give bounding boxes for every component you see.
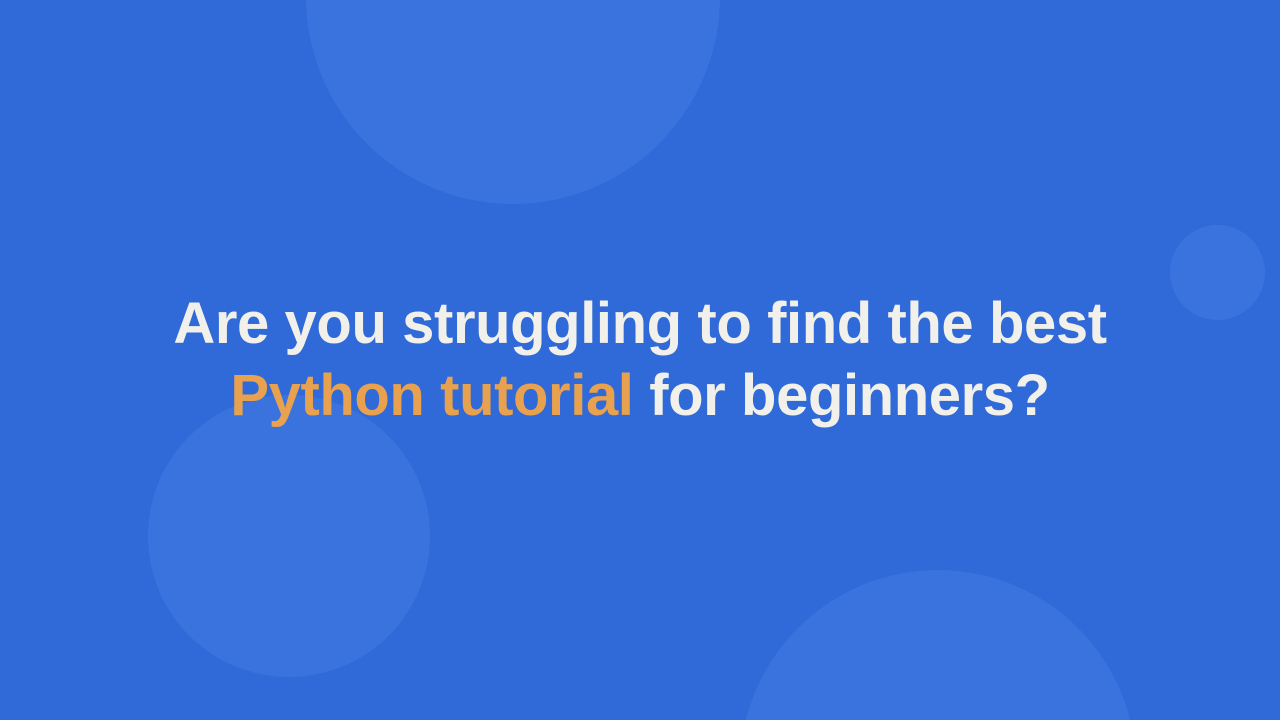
slide-canvas: Are you struggling to find the best Pyth… <box>0 0 1280 720</box>
headline-accent-text: Python tutorial <box>230 363 633 428</box>
headline-line-2-rest: for beginners? <box>634 363 1050 428</box>
headline-line-2: Python tutorial for beginners? <box>230 360 1049 432</box>
headline-block: Are you struggling to find the best Pyth… <box>0 0 1280 720</box>
headline-line-1: Are you struggling to find the best <box>173 288 1106 360</box>
